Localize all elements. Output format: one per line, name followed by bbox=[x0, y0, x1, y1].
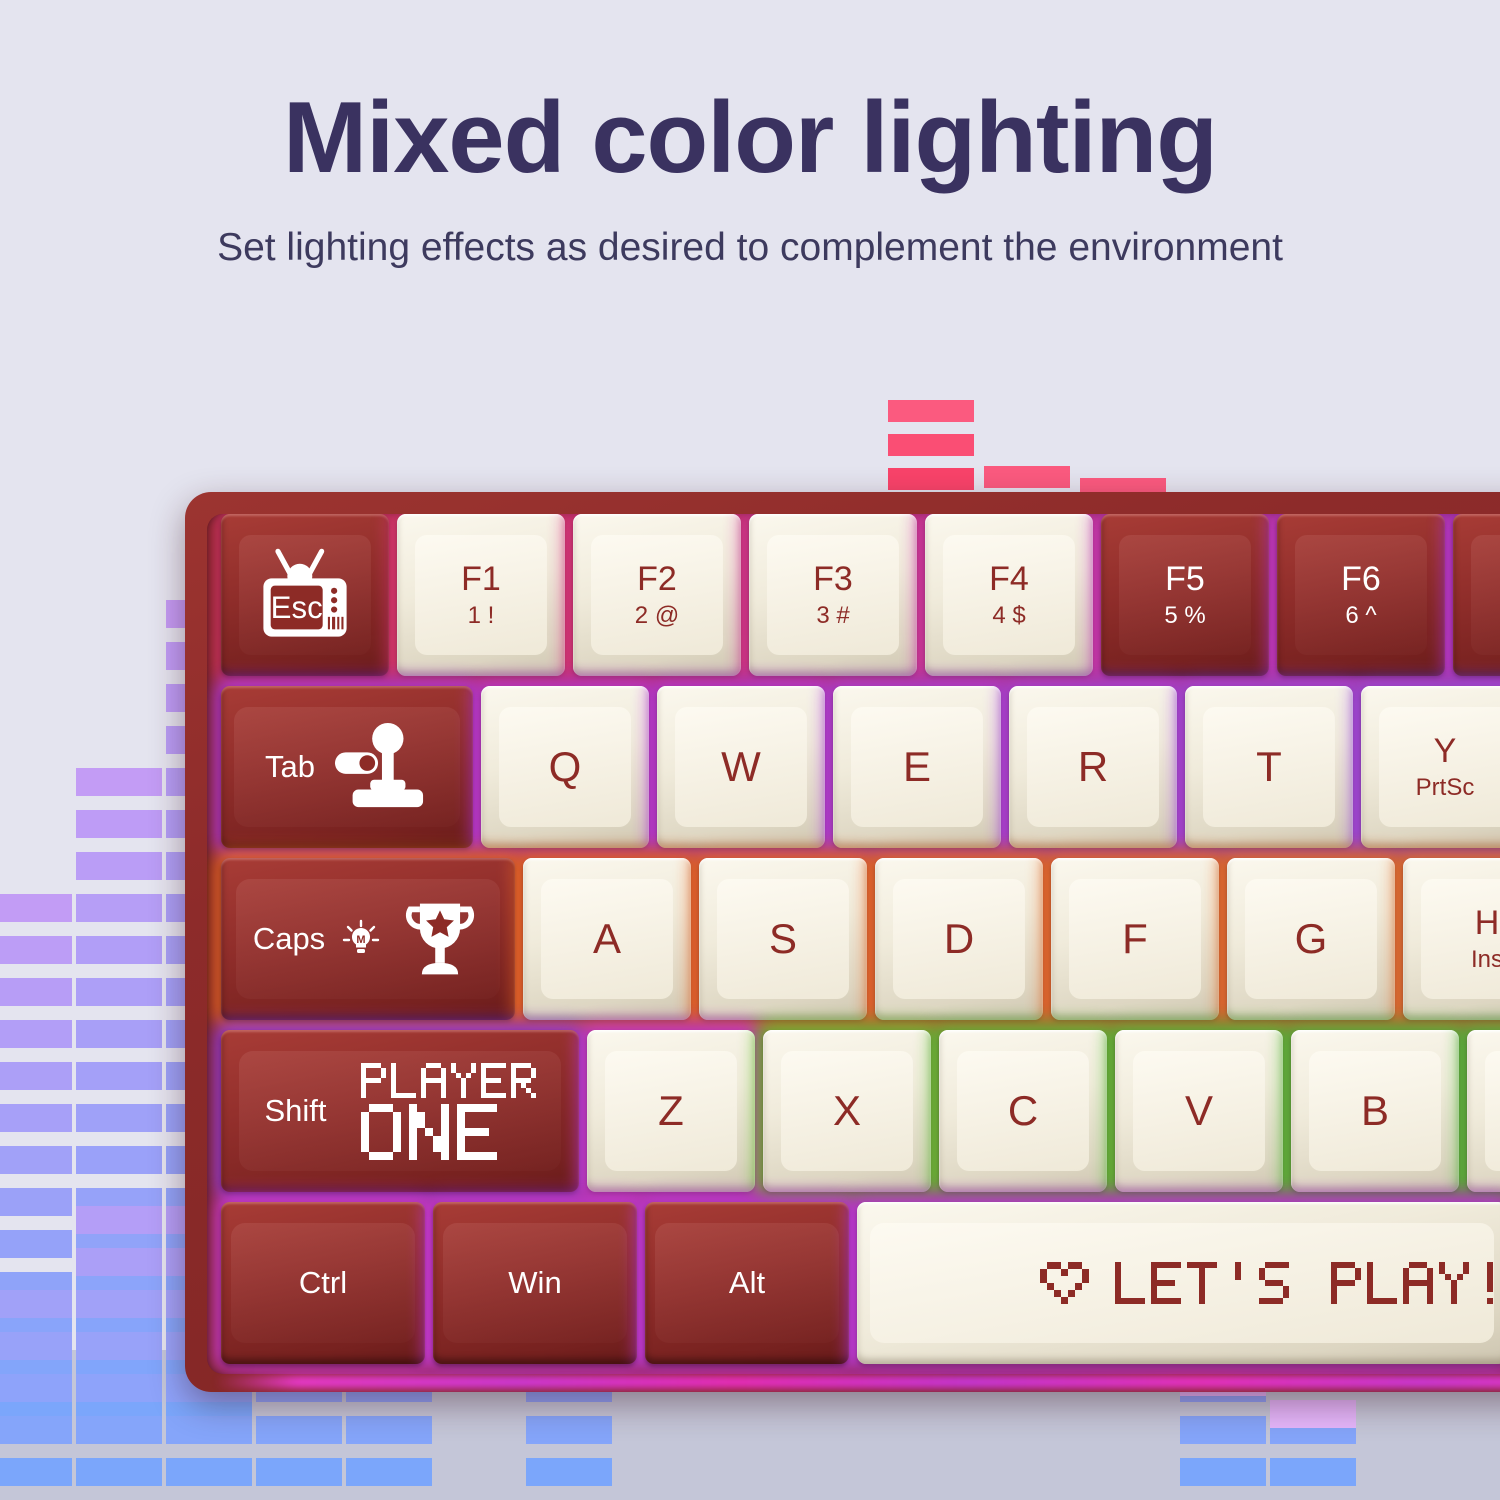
key-sublabel: 4 $ bbox=[992, 603, 1025, 628]
keycap[interactable]: X bbox=[763, 1030, 931, 1192]
keycap-face: B bbox=[1309, 1051, 1440, 1171]
key-b[interactable]: B bbox=[1291, 1030, 1459, 1192]
keycap-face: HIns bbox=[1421, 879, 1500, 999]
keycap[interactable]: F33 # bbox=[749, 514, 917, 676]
key-f2[interactable]: F22 @ bbox=[573, 514, 741, 676]
keycap[interactable]: R bbox=[1009, 686, 1177, 848]
key-label: X bbox=[833, 1089, 861, 1134]
key-v[interactable]: V bbox=[1115, 1030, 1283, 1192]
keycap[interactable]: YPrtSc bbox=[1361, 686, 1500, 848]
key-row-function-row: EscF11 !F22 @F33 #F44 $F55 %F66 ^F77 & bbox=[207, 514, 1500, 676]
keycap-face: X bbox=[781, 1051, 912, 1171]
key-label: V bbox=[1185, 1089, 1213, 1134]
key-sublabel: 2 @ bbox=[635, 603, 679, 628]
keycap-face: E bbox=[851, 707, 982, 827]
eq-segment bbox=[1270, 1458, 1356, 1486]
keycap-face: Z bbox=[605, 1051, 736, 1171]
keycap[interactable]: A bbox=[523, 858, 691, 1020]
eq-segment bbox=[526, 1416, 612, 1444]
keycap-face: C bbox=[957, 1051, 1088, 1171]
eq-segment bbox=[0, 1458, 72, 1486]
keycap[interactable]: F55 % bbox=[1101, 514, 1269, 676]
keycap-face: F66 ^ bbox=[1295, 535, 1426, 655]
spacebar-legend bbox=[857, 1262, 1500, 1304]
keycap[interactable]: V bbox=[1115, 1030, 1283, 1192]
key-label: F6 bbox=[1341, 561, 1381, 597]
keycap-face: T bbox=[1203, 707, 1334, 827]
keycap[interactable]: B bbox=[1291, 1030, 1459, 1192]
key-r[interactable]: R bbox=[1009, 686, 1177, 848]
page-subtitle: Set lighting effects as desired to compl… bbox=[0, 225, 1500, 272]
svg-text:Esc: Esc bbox=[271, 590, 323, 625]
joystick-icon bbox=[331, 721, 429, 813]
keycap-face: Alt bbox=[655, 1223, 839, 1343]
poster-canvas: Mixed color lighting Set lighting effect… bbox=[0, 0, 1500, 1500]
key-d[interactable]: D bbox=[875, 858, 1043, 1020]
keycap-face: Tab bbox=[234, 707, 461, 827]
key-label: F1 bbox=[461, 561, 501, 597]
keycap-face: F11 ! bbox=[415, 535, 546, 655]
key-tab[interactable]: Tab bbox=[221, 686, 473, 848]
keycap[interactable]: Ctrl bbox=[221, 1202, 425, 1364]
key-shift[interactable]: Shift bbox=[221, 1030, 579, 1192]
keycap[interactable]: HIns bbox=[1403, 858, 1500, 1020]
keycap-face: Ctrl bbox=[231, 1223, 415, 1343]
eq-segment bbox=[1180, 1458, 1266, 1486]
keycap[interactable]: D bbox=[875, 858, 1043, 1020]
keycap[interactable]: E bbox=[833, 686, 1001, 848]
player-one-line1 bbox=[361, 1063, 536, 1098]
eq-segment bbox=[166, 1458, 252, 1486]
key-f[interactable]: F bbox=[1051, 858, 1219, 1020]
key-s[interactable]: S bbox=[699, 858, 867, 1020]
key-label: Z bbox=[658, 1089, 684, 1134]
eq-segment bbox=[1270, 1400, 1356, 1428]
key-label: D bbox=[944, 917, 974, 962]
eq-segment bbox=[1180, 1416, 1266, 1444]
keycap[interactable]: Shift bbox=[221, 1030, 579, 1192]
keycap-face: Shift bbox=[239, 1051, 561, 1171]
key-label: Tab bbox=[265, 751, 315, 784]
keycap[interactable]: F22 @ bbox=[573, 514, 741, 676]
key-y[interactable]: YPrtSc bbox=[1361, 686, 1500, 848]
keycap[interactable]: F66 ^ bbox=[1277, 514, 1445, 676]
key-row-bottom-row: CtrlWinAlt bbox=[207, 1202, 1500, 1364]
eq-segment bbox=[76, 1332, 162, 1360]
keyboard-plate: EscF11 !F22 @F33 #F44 $F55 %F66 ^F77 &Ta… bbox=[207, 514, 1500, 1374]
key-ctrl[interactable]: Ctrl bbox=[221, 1202, 425, 1364]
keycap[interactable]: N bbox=[1467, 1030, 1500, 1192]
key-f7[interactable]: F77 & bbox=[1453, 514, 1500, 676]
page-title: Mixed color lighting bbox=[0, 86, 1500, 191]
rgb-underglow bbox=[215, 1376, 1500, 1388]
trophy-icon bbox=[397, 896, 483, 982]
eq-segment bbox=[526, 1458, 612, 1486]
key-label: Y bbox=[1434, 733, 1457, 769]
eq-segment bbox=[0, 1290, 72, 1318]
keycap-face: D bbox=[893, 879, 1024, 999]
keycap[interactable]: C bbox=[939, 1030, 1107, 1192]
key-label: S bbox=[769, 917, 797, 962]
key-a[interactable]: A bbox=[523, 858, 691, 1020]
key-label: Caps bbox=[253, 923, 325, 956]
key-f4[interactable]: F44 $ bbox=[925, 514, 1093, 676]
keycap[interactable]: G bbox=[1227, 858, 1395, 1020]
keycap-face: V bbox=[1133, 1051, 1264, 1171]
key-label: F5 bbox=[1165, 561, 1205, 597]
key-label: Win bbox=[508, 1267, 561, 1300]
eq-segment bbox=[76, 1374, 162, 1402]
eq-segment bbox=[166, 1416, 252, 1444]
keycap[interactable]: Alt bbox=[645, 1202, 849, 1364]
player-one-badge bbox=[361, 1063, 536, 1160]
keycap-face: N bbox=[1485, 1051, 1500, 1171]
key-sublabel: PrtSc bbox=[1416, 775, 1475, 800]
keycap-face: Win bbox=[443, 1223, 627, 1343]
keycap-face: G bbox=[1245, 879, 1376, 999]
keycap[interactable]: Win bbox=[433, 1202, 637, 1364]
key-label: B bbox=[1361, 1089, 1389, 1134]
key-label: A bbox=[593, 917, 621, 962]
lightbulb-m-icon: M bbox=[341, 919, 381, 959]
key-row-zxcv-row: ShiftZXCVBN bbox=[207, 1030, 1500, 1192]
keycap-face: F22 @ bbox=[591, 535, 722, 655]
key-label: T bbox=[1256, 745, 1282, 790]
keycap-face: W bbox=[675, 707, 806, 827]
keycap[interactable]: Z bbox=[587, 1030, 755, 1192]
key-c[interactable]: C bbox=[939, 1030, 1107, 1192]
key-esc[interactable]: Esc bbox=[221, 514, 389, 676]
key-label: C bbox=[1008, 1089, 1038, 1134]
header-block: Mixed color lighting Set lighting effect… bbox=[0, 86, 1500, 272]
key-label: Q bbox=[549, 745, 582, 790]
player-one-line2 bbox=[361, 1104, 536, 1160]
key-sublabel: 1 ! bbox=[468, 603, 495, 628]
keycap[interactable] bbox=[857, 1202, 1500, 1364]
key-label: F3 bbox=[813, 561, 853, 597]
keycap[interactable]: S bbox=[699, 858, 867, 1020]
key-n[interactable]: N bbox=[1467, 1030, 1500, 1192]
keycap-face: F bbox=[1069, 879, 1200, 999]
eq-segment bbox=[76, 1248, 162, 1276]
keycap-face: A bbox=[541, 879, 672, 999]
eq-segment bbox=[0, 1416, 72, 1444]
eq-segment bbox=[76, 1458, 162, 1486]
key-row-qwerty-row: TabQWERTYPrtScU bbox=[207, 686, 1500, 848]
lets-play-text bbox=[1115, 1262, 1500, 1304]
key-label: F2 bbox=[637, 561, 677, 597]
eq-segment bbox=[346, 1458, 432, 1486]
key-label: R bbox=[1078, 745, 1108, 790]
key-w[interactable]: W bbox=[657, 686, 825, 848]
eq-segment bbox=[76, 1290, 162, 1318]
keycap[interactable]: F11 ! bbox=[397, 514, 565, 676]
key-label: F4 bbox=[989, 561, 1029, 597]
pixel-heart-icon bbox=[1040, 1262, 1089, 1304]
keycap-face: F77 & bbox=[1471, 535, 1500, 655]
key-label: Shift bbox=[264, 1095, 326, 1128]
keycap[interactable]: CapsM bbox=[221, 858, 515, 1020]
key-q[interactable]: Q bbox=[481, 686, 649, 848]
eq-segment bbox=[76, 1416, 162, 1444]
key-alt[interactable]: Alt bbox=[645, 1202, 849, 1364]
keycap-face: Esc bbox=[239, 535, 370, 655]
key-sublabel: 6 ^ bbox=[1345, 603, 1376, 628]
svg-text:M: M bbox=[357, 934, 366, 946]
key-space[interactable] bbox=[857, 1202, 1500, 1364]
eq-segment bbox=[0, 1332, 72, 1360]
retro-tv-icon: Esc bbox=[253, 543, 357, 647]
keycap[interactable]: T bbox=[1185, 686, 1353, 848]
key-h[interactable]: HIns bbox=[1403, 858, 1500, 1020]
key-label: W bbox=[721, 745, 761, 790]
keycap[interactable]: Esc bbox=[221, 514, 389, 676]
eq-segment bbox=[256, 1458, 342, 1486]
key-e[interactable]: E bbox=[833, 686, 1001, 848]
key-label: Alt bbox=[729, 1267, 765, 1300]
key-row-asdf-row: CapsMASDFGHIns bbox=[207, 858, 1500, 1020]
key-label: H bbox=[1475, 905, 1500, 941]
key-f1[interactable]: F11 ! bbox=[397, 514, 565, 676]
key-sublabel: 5 % bbox=[1164, 603, 1205, 628]
keyboard-case: EscF11 !F22 @F33 #F44 $F55 %F66 ^F77 &Ta… bbox=[185, 492, 1500, 1392]
key-sublabel: Ins bbox=[1471, 947, 1500, 972]
key-label: G bbox=[1295, 917, 1328, 962]
eq-segment bbox=[346, 1416, 432, 1444]
keycap-face: Q bbox=[499, 707, 630, 827]
key-label: F bbox=[1122, 917, 1148, 962]
eq-segment bbox=[256, 1416, 342, 1444]
keycap-face: F44 $ bbox=[943, 535, 1074, 655]
key-f3[interactable]: F33 # bbox=[749, 514, 917, 676]
key-g[interactable]: G bbox=[1227, 858, 1395, 1020]
keycap-face: R bbox=[1027, 707, 1158, 827]
key-f5[interactable]: F55 % bbox=[1101, 514, 1269, 676]
keycap[interactable]: F bbox=[1051, 858, 1219, 1020]
key-label: Ctrl bbox=[299, 1267, 347, 1300]
eq-segment bbox=[0, 1374, 72, 1402]
key-caps[interactable]: CapsM bbox=[221, 858, 515, 1020]
keycap[interactable]: Tab bbox=[221, 686, 473, 848]
keycap-face: S bbox=[717, 879, 848, 999]
key-label: E bbox=[903, 745, 931, 790]
keycap[interactable]: W bbox=[657, 686, 825, 848]
keycap-face: F55 % bbox=[1119, 535, 1250, 655]
keycap-face: CapsM bbox=[236, 879, 501, 999]
keycap[interactable]: F77 & bbox=[1453, 514, 1500, 676]
eq-segment bbox=[76, 1206, 162, 1234]
keycap[interactable]: Q bbox=[481, 686, 649, 848]
key-sublabel: 3 # bbox=[816, 603, 849, 628]
keycap-face: YPrtSc bbox=[1379, 707, 1500, 827]
keycap-face: F33 # bbox=[767, 535, 898, 655]
key-z[interactable]: Z bbox=[587, 1030, 755, 1192]
keycap-face bbox=[870, 1223, 1494, 1343]
key-x[interactable]: X bbox=[763, 1030, 931, 1192]
key-f6[interactable]: F66 ^ bbox=[1277, 514, 1445, 676]
key-win[interactable]: Win bbox=[433, 1202, 637, 1364]
keycap[interactable]: F44 $ bbox=[925, 514, 1093, 676]
key-t[interactable]: T bbox=[1185, 686, 1353, 848]
